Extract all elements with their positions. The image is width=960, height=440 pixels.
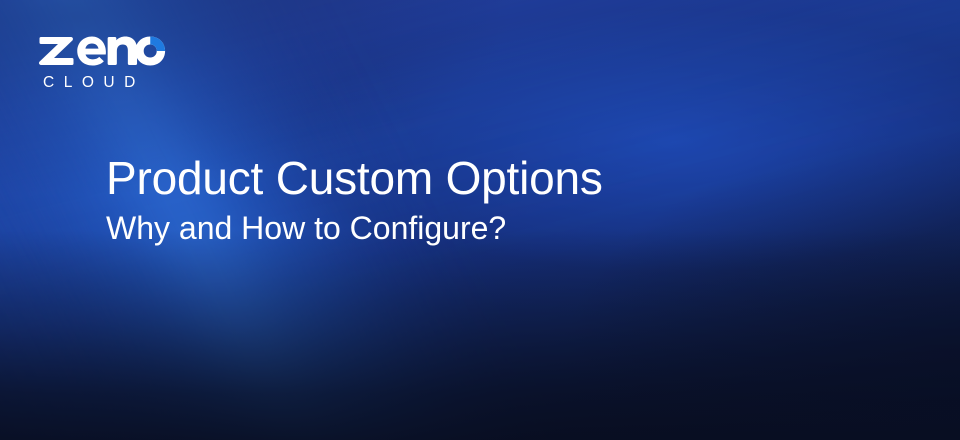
- headline-block: Product Custom Options Why and How to Co…: [106, 152, 886, 248]
- logo-lockup[interactable]: CLOUD: [38, 28, 228, 91]
- page-title: Product Custom Options: [106, 152, 886, 204]
- logo-subtext: CLOUD: [43, 75, 228, 91]
- page-subtitle: Why and How to Configure?: [106, 210, 886, 247]
- zeno-wordmark-icon: [38, 28, 166, 68]
- banner-root: CLOUD Product Custom Options Why and How…: [0, 0, 960, 440]
